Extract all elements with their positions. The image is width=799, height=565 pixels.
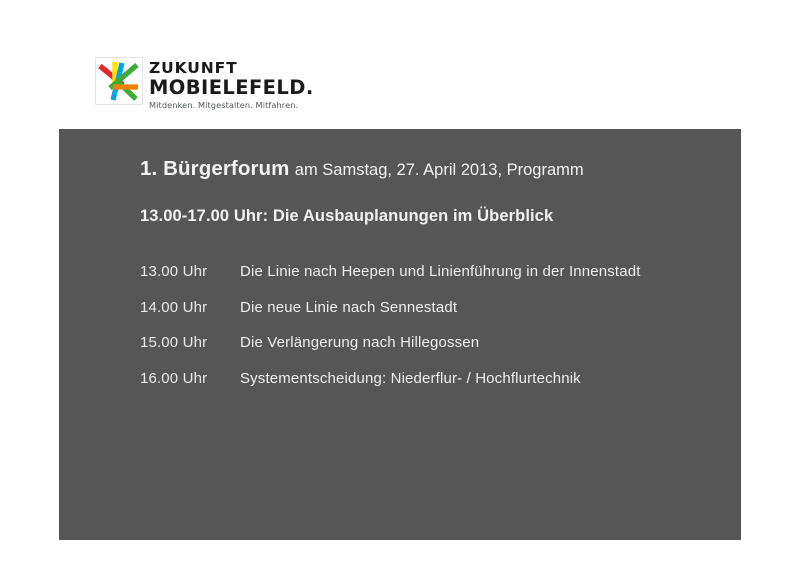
content-panel: 1. Bürgerforum am Samstag, 27. April 201… <box>59 129 741 540</box>
schedule-description: Die Verlängerung nach Hillegossen <box>240 334 479 351</box>
list-item: 14.00 Uhr Die neue Linie nach Sennestadt <box>140 299 735 316</box>
schedule-time: 16.00 Uhr <box>140 370 240 387</box>
list-item: 16.00 Uhr Systementscheidung: Niederflur… <box>140 370 735 387</box>
list-item: 15.00 Uhr Die Verlängerung nach Hillegos… <box>140 334 735 351</box>
page-title-light: am Samstag, 27. April 2013, Programm <box>295 161 584 179</box>
schedule-description: Die neue Linie nach Sennestadt <box>240 299 457 316</box>
schedule-time: 14.00 Uhr <box>140 299 240 316</box>
page-title: 1. Bürgerforum am Samstag, 27. April 201… <box>140 157 584 181</box>
schedule-list: 13.00 Uhr Die Linie nach Heepen und Lini… <box>140 263 735 405</box>
logo: ZUKUNFT MOBIELEFELD. Mitdenken. Mitgesta… <box>96 58 314 109</box>
schedule-description: Die Linie nach Heepen und Linienführung … <box>240 263 641 280</box>
list-item: 13.00 Uhr Die Linie nach Heepen und Lini… <box>140 263 735 280</box>
zukunft-mobielefeld-mark-icon <box>96 58 142 104</box>
logo-tagline: Mitdenken. Mitgestalten. Mitfahren. <box>149 101 314 109</box>
slide-page: ZUKUNFT MOBIELEFELD. Mitdenken. Mitgesta… <box>0 0 799 565</box>
page-title-strong: 1. Bürgerforum <box>140 157 289 180</box>
schedule-description: Systementscheidung: Niederflur- / Hochfl… <box>240 370 581 387</box>
logo-line-1: ZUKUNFT <box>149 61 314 77</box>
page-subtitle: 13.00-17.00 Uhr: Die Ausbauplanungen im … <box>140 207 553 226</box>
schedule-time: 15.00 Uhr <box>140 334 240 351</box>
logo-line-2: MOBIELEFELD. <box>149 78 314 98</box>
schedule-time: 13.00 Uhr <box>140 263 240 280</box>
logo-wordmark: ZUKUNFT MOBIELEFELD. Mitdenken. Mitgesta… <box>149 58 314 109</box>
